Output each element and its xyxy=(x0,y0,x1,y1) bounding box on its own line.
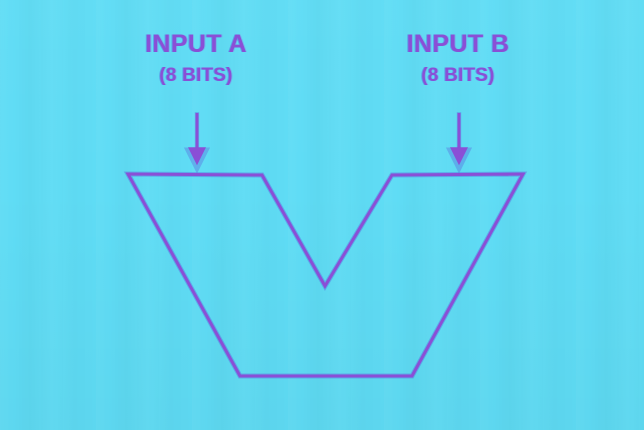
input-b-bits-label: (8 BITS) xyxy=(358,66,558,85)
alu-shape xyxy=(128,174,523,376)
input-a-bits-label: (8 BITS) xyxy=(96,66,296,85)
alu-shape-fringe xyxy=(128,174,523,376)
input-a-label: INPUT A xyxy=(96,32,296,57)
input-b-label-group: INPUT B (8 BITS) xyxy=(358,32,558,85)
diagram-canvas: INPUT A (8 BITS) INPUT B (8 BITS) xyxy=(0,0,644,430)
input-b-label: INPUT B xyxy=(358,32,558,57)
input-a-label-group: INPUT A (8 BITS) xyxy=(96,32,296,85)
